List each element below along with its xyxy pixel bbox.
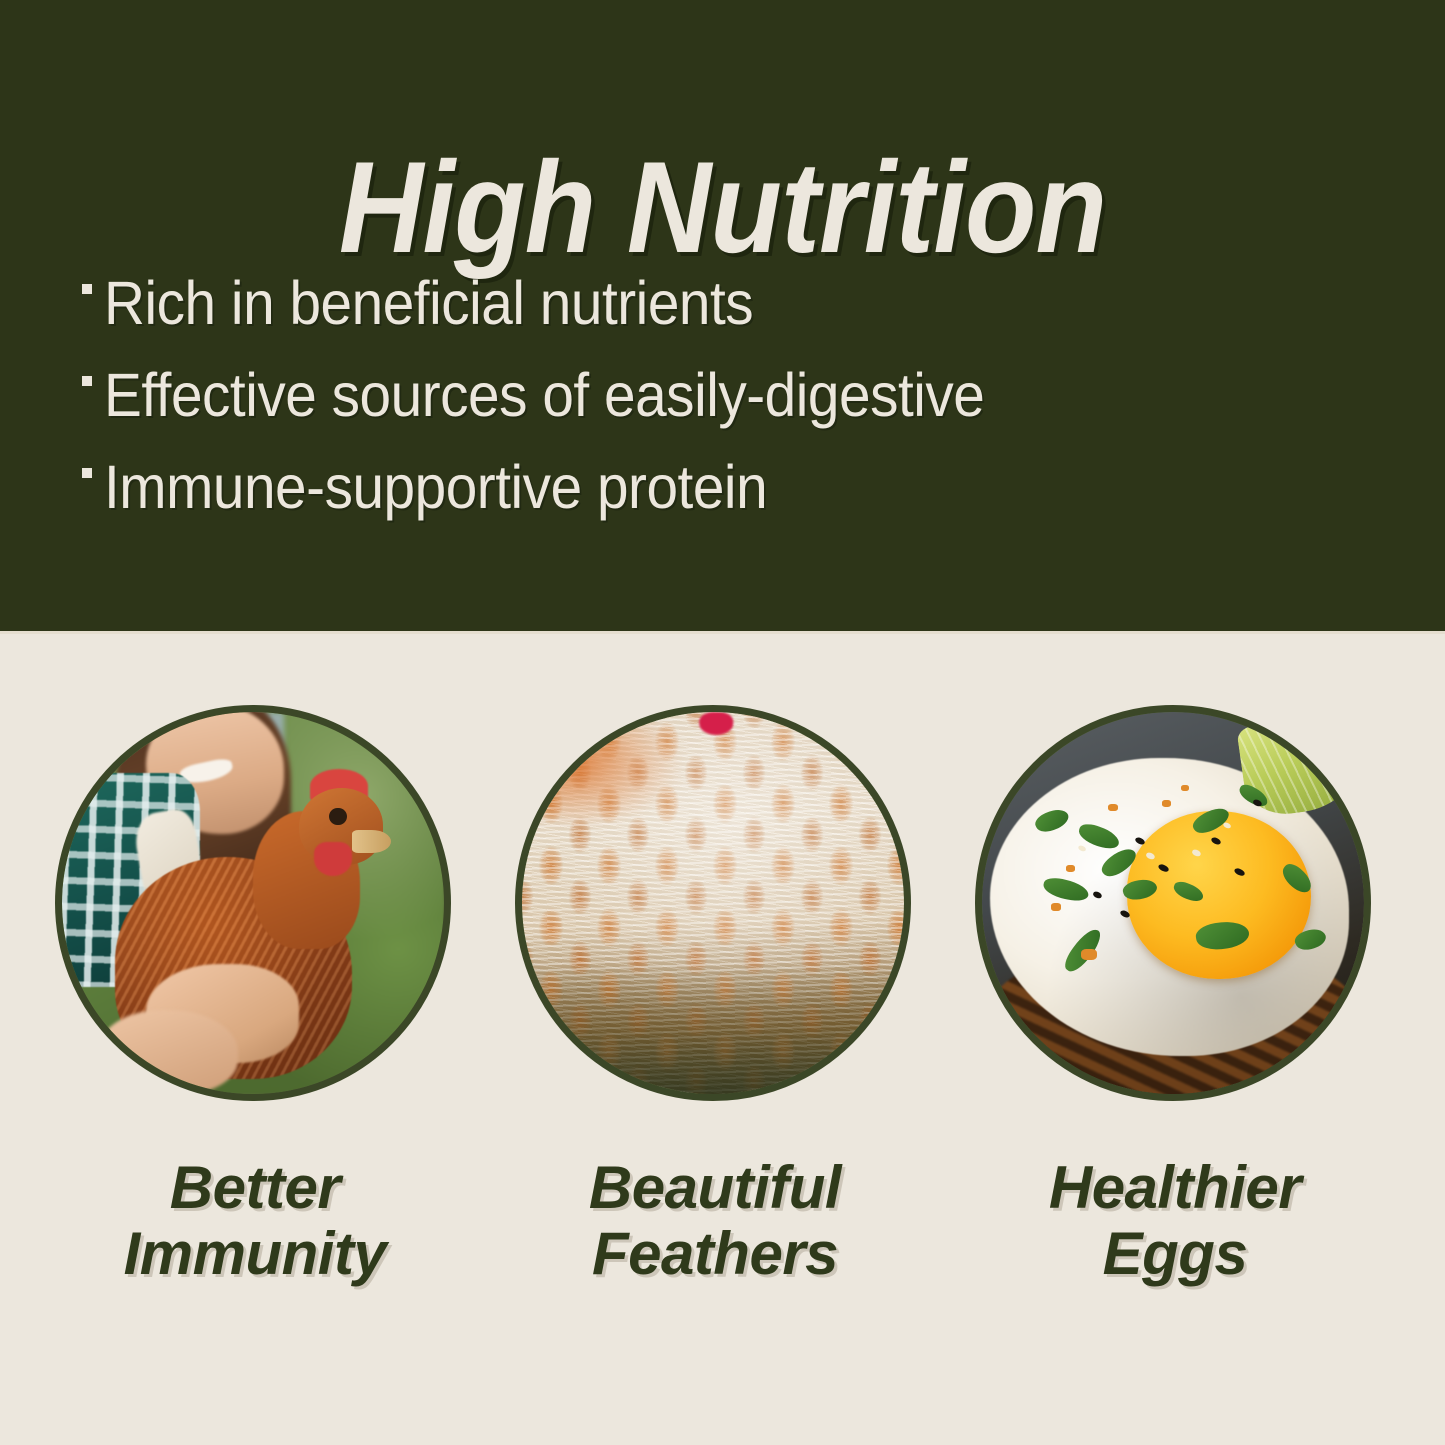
square-bullet-icon: [82, 376, 92, 386]
caption-line-1: Healthier: [975, 1155, 1375, 1221]
fried-egg-photo: [975, 705, 1371, 1101]
caption-line-1: Better: [55, 1155, 455, 1221]
caption-line-1: Beautiful: [515, 1155, 915, 1221]
list-item: Rich in beneficial nutrients: [82, 272, 1372, 334]
list-item: Immune-supportive protein: [82, 456, 1372, 518]
chicken-feathers-photo: [515, 705, 911, 1101]
square-bullet-icon: [82, 284, 92, 294]
woman-holding-hen-photo: [55, 705, 451, 1101]
benefit-card-beautiful-feathers: Beautiful Feathers: [515, 705, 915, 1287]
benefit-card-healthier-eggs: Healthier Eggs: [975, 705, 1375, 1287]
infographic-page: High Nutrition Rich in beneficial nutrie…: [0, 0, 1445, 1445]
page-title: High Nutrition: [72, 135, 1373, 281]
hero-panel: High Nutrition Rich in beneficial nutrie…: [0, 0, 1445, 634]
list-item: Effective sources of easily-digestive: [82, 364, 1372, 426]
benefit-card-better-immunity: Better Immunity: [55, 705, 455, 1287]
caption-line-2: Immunity: [55, 1221, 455, 1287]
bullet-text: Immune-supportive protein: [104, 456, 767, 518]
benefit-caption: Healthier Eggs: [975, 1155, 1375, 1287]
benefit-caption: Better Immunity: [55, 1155, 455, 1287]
benefit-caption: Beautiful Feathers: [515, 1155, 915, 1287]
caption-line-2: Eggs: [975, 1221, 1375, 1287]
bullet-text: Rich in beneficial nutrients: [104, 272, 753, 334]
bullet-text: Effective sources of easily-digestive: [104, 364, 984, 426]
benefit-bullet-list: Rich in beneficial nutrients Effective s…: [82, 272, 1372, 548]
square-bullet-icon: [82, 468, 92, 478]
benefits-panel: Better Immunity Beautiful: [0, 637, 1445, 1445]
caption-line-2: Feathers: [515, 1221, 915, 1287]
